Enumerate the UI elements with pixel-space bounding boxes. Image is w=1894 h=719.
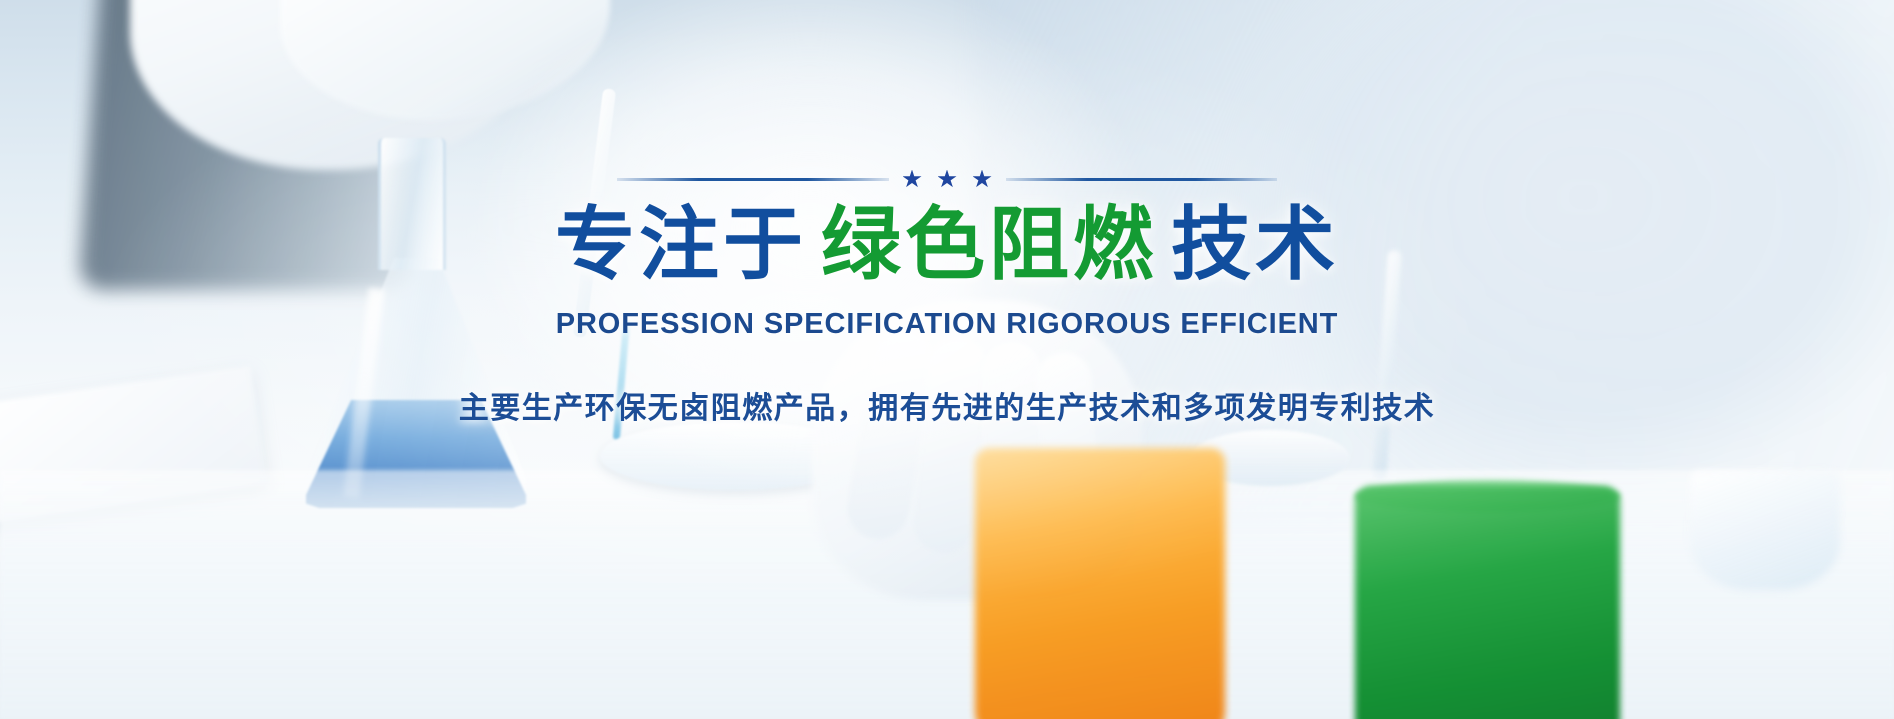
banner-content: 专注于绿色阻燃技术 PROFESSION SPECIFICATION RIGOR…	[0, 0, 1894, 719]
headline-part-blue: 专注于	[555, 198, 807, 291]
star-icon	[903, 170, 922, 189]
english-tagline: PROFESSION SPECIFICATION RIGOROUS EFFICI…	[556, 308, 1339, 341]
page-title: 专注于绿色阻燃技术	[555, 202, 1339, 288]
headline-part-blue-tail: 技术	[1171, 198, 1339, 291]
divider-stars	[903, 170, 992, 189]
divider-rule-left	[617, 178, 889, 181]
divider-rule-right	[1006, 178, 1278, 181]
star-icon	[938, 170, 957, 189]
decorative-divider	[617, 168, 1277, 190]
hero-banner: 专注于绿色阻燃技术 PROFESSION SPECIFICATION RIGOR…	[0, 0, 1894, 719]
chinese-subtitle: 主要生产环保无卤阻燃产品，拥有先进的生产技术和多项发明专利技术	[459, 383, 1436, 427]
headline-part-green: 绿色阻燃	[807, 198, 1171, 291]
star-icon	[973, 170, 992, 189]
